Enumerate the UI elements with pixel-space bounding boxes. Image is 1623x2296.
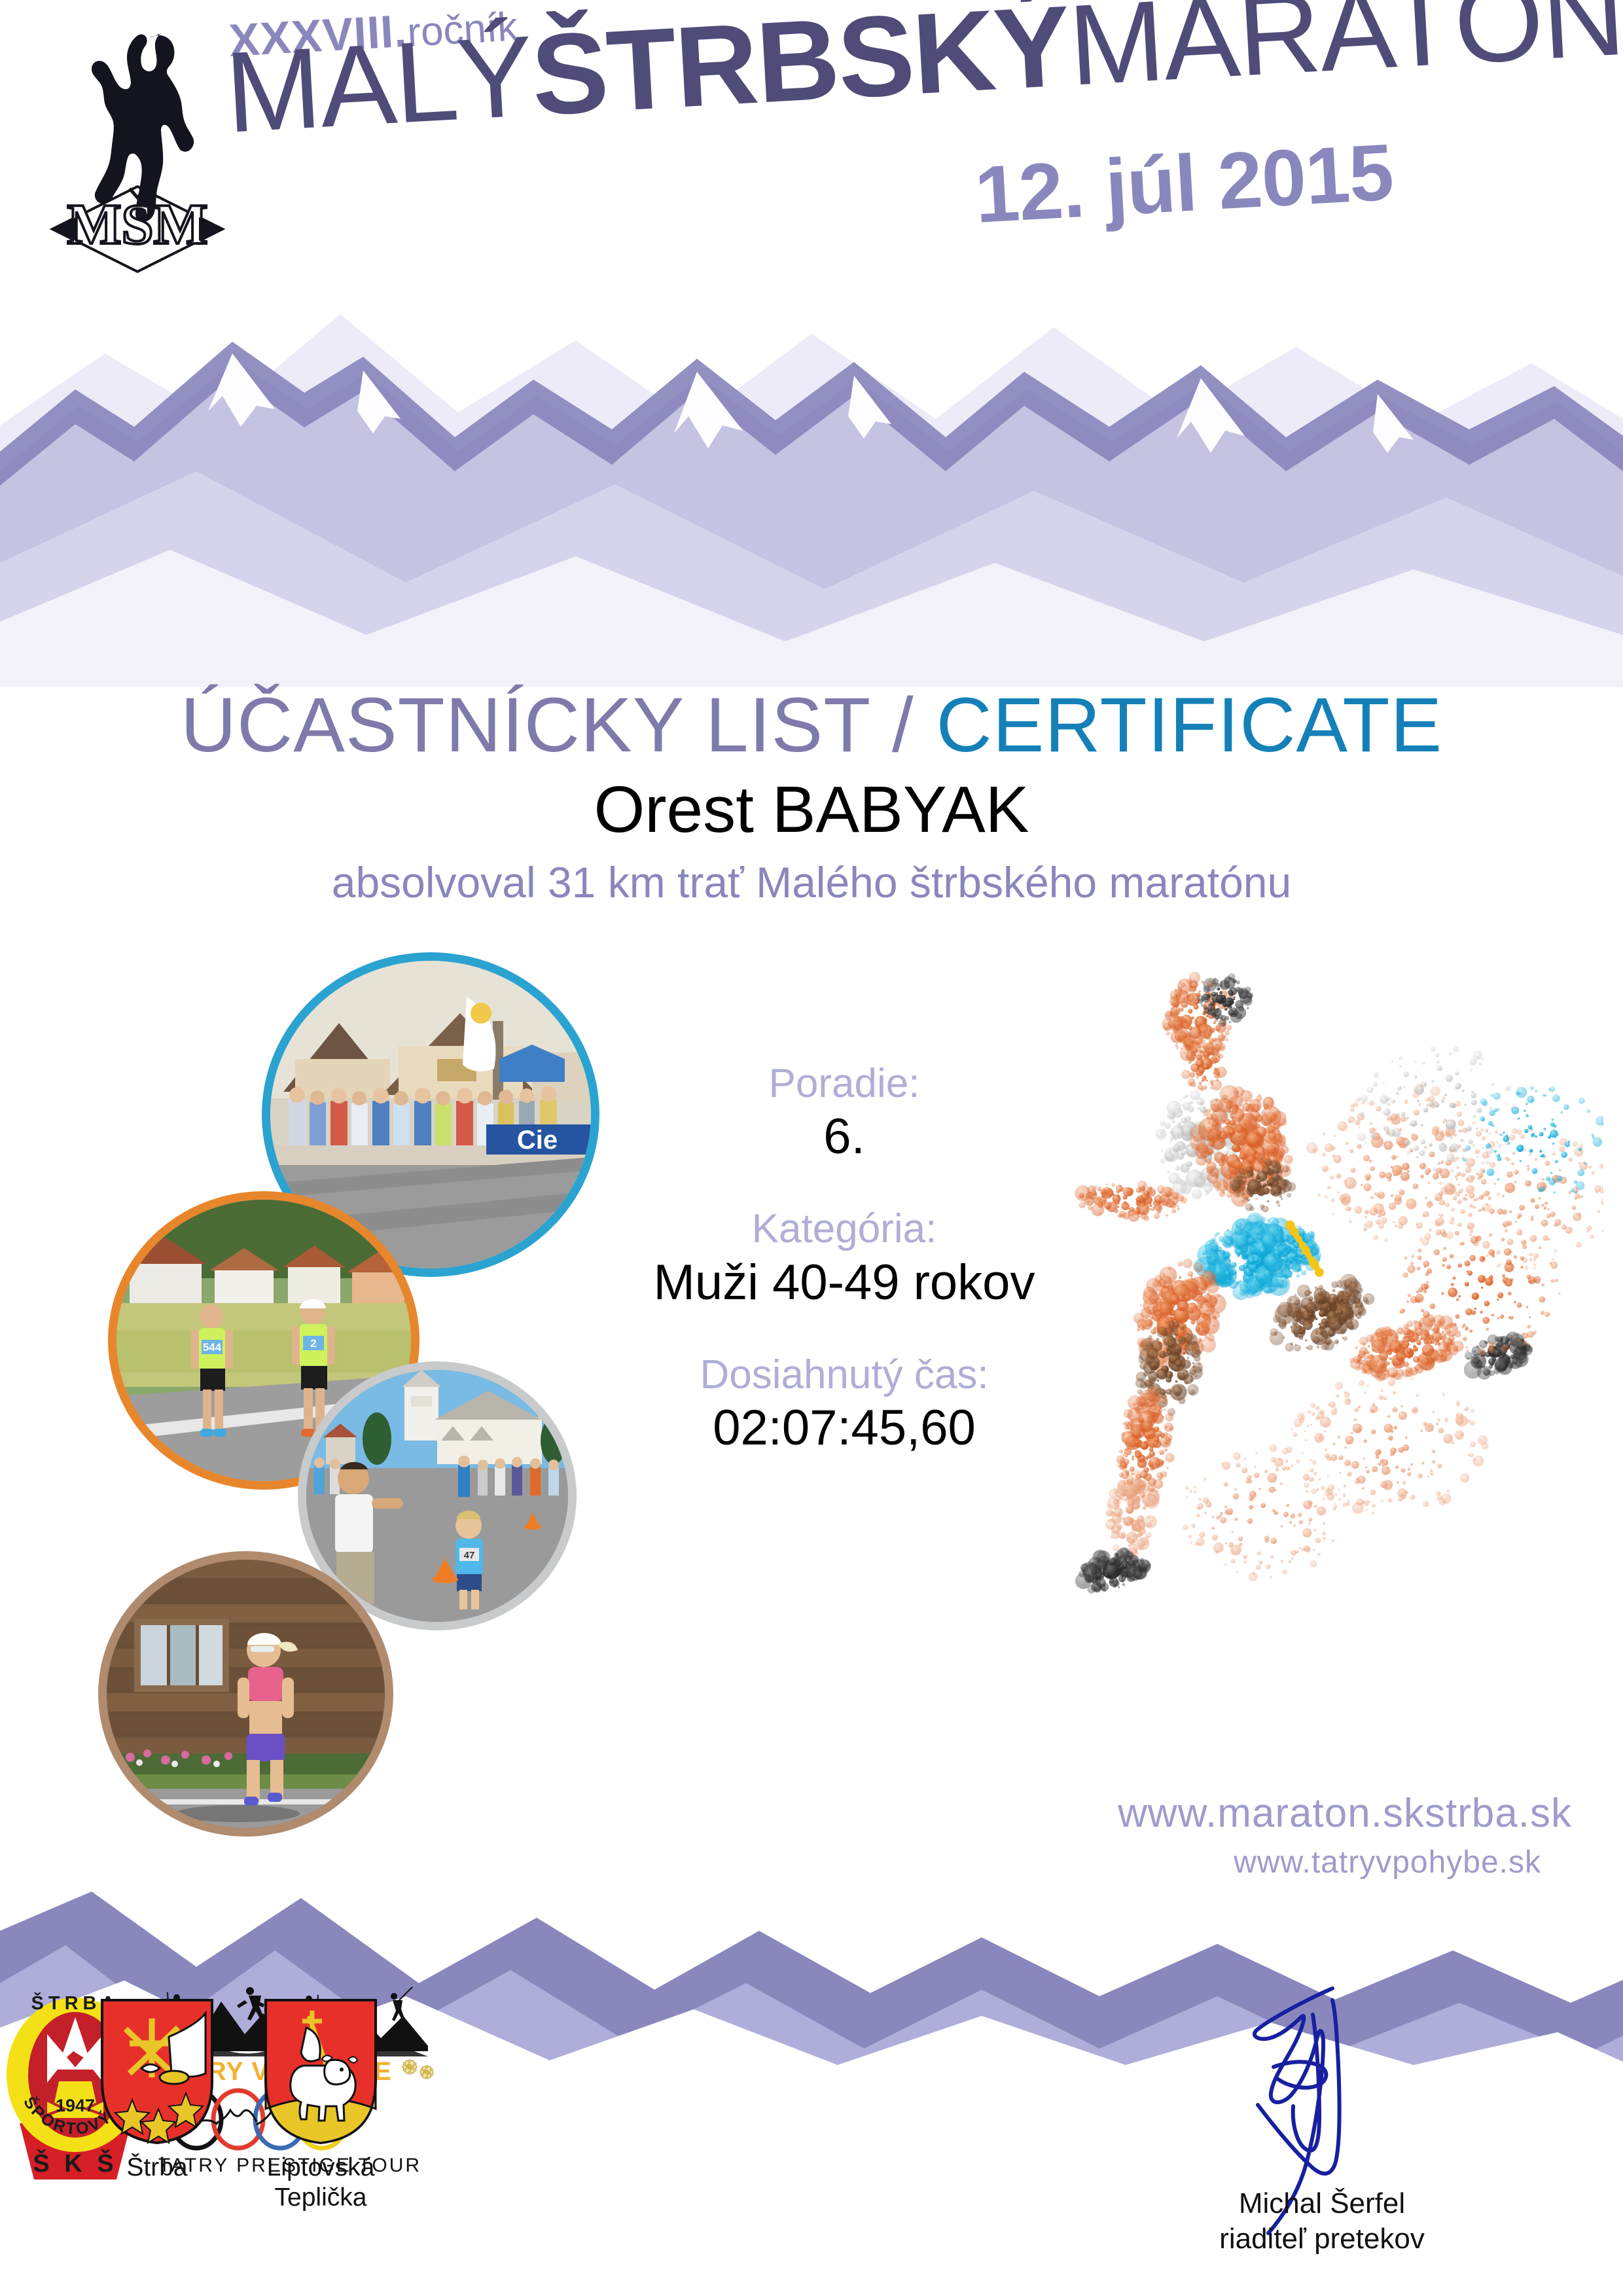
certificate-page: MSM XXXVIII.ročník MALÝŠTRBSKÝMARATÓN 12… <box>0 0 1623 2296</box>
msm-logo: MSM <box>39 13 236 275</box>
certificate-subtitle: absolvoval 31 km trať Malého štrbského m… <box>0 857 1623 907</box>
crest-liptovska-teplicka: Liptovská Teplička <box>262 1996 380 2150</box>
particle-runner-illustration <box>982 949 1603 1702</box>
woman-runner-photo-image <box>107 1560 385 1828</box>
road-runners-photo-bib-a: 544 <box>203 1341 222 1354</box>
kids-race-photo-bib: 47 <box>464 1550 475 1561</box>
certificate-title-sk: ÚČASTNÍCKY LIST <box>181 682 870 768</box>
title-maraton: MARATÓN <box>1065 0 1623 110</box>
crest-strba: Štrba <box>98 1996 216 2150</box>
crest-strba-icon <box>98 1996 216 2147</box>
sks-logo-abbrev: Š K Š <box>33 2148 117 2178</box>
footer: Štrba Liptovská <box>0 1983 1623 2296</box>
event-title: MALÝŠTRBSKÝMARATÓN <box>223 0 1623 151</box>
start-line-photo-banner-text: Cie <box>517 1126 558 1155</box>
certificate-title-en: CERTIFICATE <box>936 682 1442 768</box>
title-maly: MALÝ <box>223 12 536 157</box>
signature-caption: Michal Šerfel riaditeľ pretekov <box>1139 2186 1505 2256</box>
certificate-title-separator: / <box>892 682 914 768</box>
certificate-title: ÚČASTNÍCKY LIST / CERTIFICATE <box>0 681 1623 770</box>
mountain-band-top <box>0 255 1623 687</box>
crest-liptovska-teplicka-label-line2: Teplička <box>275 2183 367 2212</box>
website-primary[interactable]: www.maraton.skstrba.sk <box>1118 1790 1572 1837</box>
crest-liptovska-teplicka-icon <box>262 1996 380 2147</box>
signature-role: riaditeľ pretekov <box>1139 2221 1505 2257</box>
signature-name: Michal Šerfel <box>1139 2186 1505 2221</box>
road-runners-photo-bib-b: 2 <box>310 1337 316 1350</box>
crest-liptovska-teplicka-label-line1: Liptovská <box>267 2153 375 2182</box>
sks-logo-year: 1947 <box>56 2096 95 2115</box>
woman-runner-photo <box>98 1551 393 1837</box>
msm-logo-text: MSM <box>67 193 207 257</box>
event-date: 12. júl 2015 <box>972 126 1395 240</box>
crest-strba-label: Štrba <box>126 2153 187 2182</box>
title-strbsky: ŠTRBSKÝ <box>528 0 1073 140</box>
runner-name: Orest BABYAK <box>0 772 1623 848</box>
